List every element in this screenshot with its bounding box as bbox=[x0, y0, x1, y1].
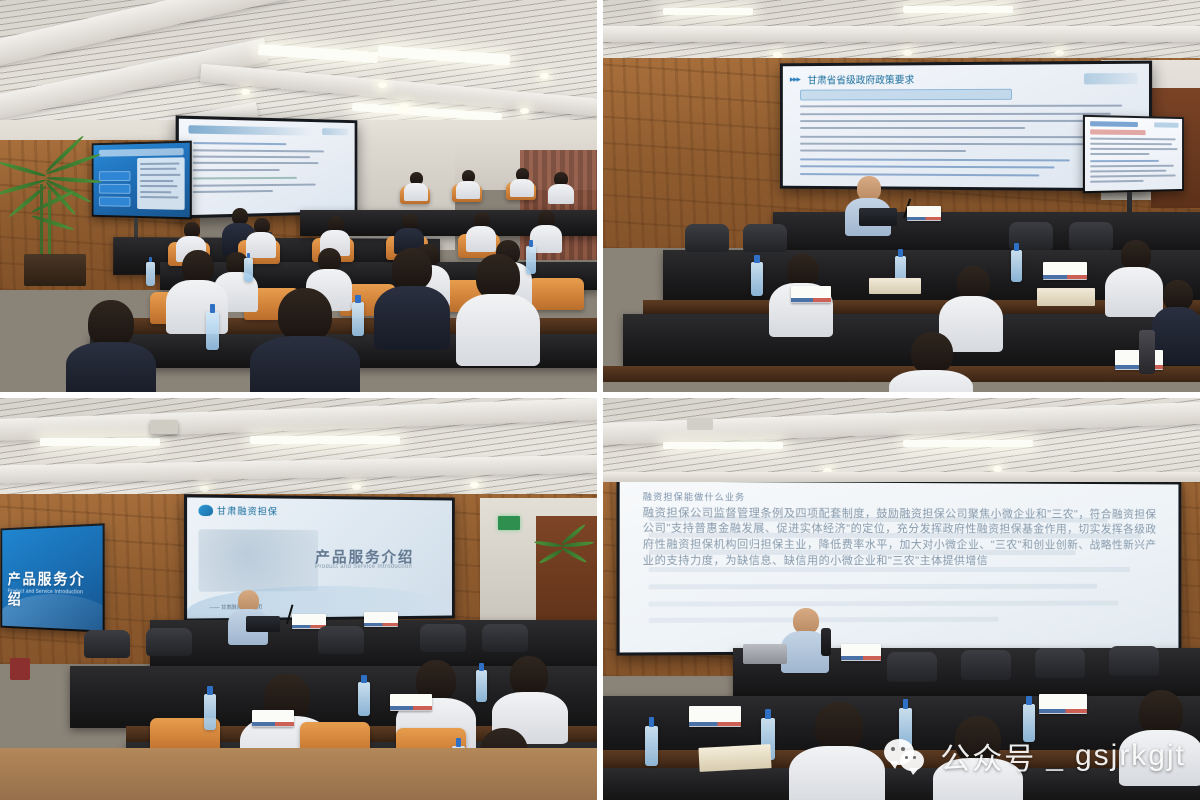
attendee bbox=[548, 172, 574, 200]
water-bottle bbox=[1011, 250, 1022, 282]
screen-mount-rail bbox=[603, 472, 1200, 482]
slide-photo-area bbox=[198, 529, 317, 592]
water-bottle bbox=[244, 258, 253, 282]
wall-alarm bbox=[10, 658, 30, 680]
slide-text-line bbox=[192, 183, 315, 186]
water-bottle bbox=[645, 726, 658, 766]
chair bbox=[743, 224, 787, 252]
nameplate bbox=[252, 710, 294, 727]
slide-logo bbox=[322, 128, 348, 136]
exit-sign bbox=[498, 516, 520, 530]
slide-bullet-icon: ▸▸▸ bbox=[790, 75, 801, 83]
notebook bbox=[1037, 288, 1095, 306]
attendee bbox=[246, 218, 276, 254]
ceiling-downlight bbox=[1055, 50, 1064, 56]
projection-screen-top-left bbox=[176, 115, 358, 218]
thermos bbox=[1139, 330, 1155, 374]
attendee-foreground bbox=[789, 702, 885, 800]
photo-panel-bottom-right: 融资担保能做什么业务 融资担保公司监督管理条例及四项配套制度，鼓励融资担保公司聚… bbox=[600, 395, 1200, 800]
attendee bbox=[1119, 690, 1200, 780]
projection-screen-surface: 融资担保能做什么业务 融资担保公司监督管理条例及四项配套制度，鼓励融资担保公司聚… bbox=[620, 481, 1179, 652]
projection-screen-bottom-right: 融资担保能做什么业务 融资担保公司监督管理条例及四项配套制度，鼓励融资担保公司聚… bbox=[617, 478, 1182, 655]
microphone bbox=[821, 628, 831, 656]
nameplate bbox=[907, 206, 941, 221]
left-tv-surface: 产品服务介绍 Product and Service Introduction bbox=[2, 525, 102, 630]
notebook bbox=[698, 744, 771, 772]
nameplate bbox=[1039, 694, 1087, 714]
nameplate bbox=[791, 286, 831, 303]
photo-panel-top-right: ▸▸▸ 甘肃省省级政府政策要求 bbox=[600, 0, 1200, 395]
laptop[interactable] bbox=[859, 208, 897, 226]
ceiling-downlight bbox=[241, 89, 250, 95]
nameplate bbox=[841, 644, 881, 661]
potted-plant bbox=[536, 528, 596, 588]
side-display-monitor[interactable] bbox=[1083, 115, 1184, 193]
slide-logo bbox=[1085, 72, 1138, 83]
attendee-foreground bbox=[933, 716, 1023, 800]
slide-title-bottom-right: 融资担保能做什么业务 bbox=[643, 490, 745, 504]
nameplate bbox=[1043, 262, 1087, 280]
tv-content-panel bbox=[137, 158, 185, 210]
slide-title-band bbox=[188, 125, 313, 136]
projection-screen-surface: 甘肃融资担保 产品服务介绍 Product and Service Introd… bbox=[187, 497, 452, 618]
attendee bbox=[1151, 280, 1200, 360]
nameplate bbox=[390, 694, 432, 711]
photo-panel-bottom-left: 甘肃融资担保 产品服务介绍 Product and Service Introd… bbox=[0, 395, 600, 800]
projection-screen-bottom-left: 甘肃融资担保 产品服务介绍 Product and Service Introd… bbox=[184, 494, 455, 621]
slide-text-line bbox=[192, 190, 272, 193]
ceiling-projector bbox=[687, 418, 713, 430]
projector-logo-group: 甘肃融资担保 bbox=[198, 504, 278, 518]
chair bbox=[420, 624, 466, 652]
attendee bbox=[404, 172, 428, 198]
ceiling-downlight bbox=[200, 486, 209, 492]
water-bottle bbox=[358, 682, 370, 716]
chair bbox=[887, 652, 937, 682]
slide-text-line bbox=[192, 169, 279, 171]
attendee-foreground bbox=[250, 288, 360, 395]
attendee bbox=[456, 170, 480, 196]
photo-panel-top-left bbox=[0, 0, 600, 395]
chair bbox=[84, 630, 130, 658]
ceiling-strip-light bbox=[663, 442, 783, 449]
slide-text-line bbox=[192, 149, 323, 152]
ceiling-downlight bbox=[378, 82, 387, 88]
water-bottle bbox=[206, 312, 219, 350]
company-logo-icon bbox=[198, 505, 212, 516]
slide-text-line bbox=[192, 142, 286, 145]
chair bbox=[961, 650, 1011, 680]
nameplate bbox=[689, 706, 741, 727]
ceiling-strip-light bbox=[903, 440, 1033, 447]
slide-text-line bbox=[192, 155, 310, 158]
audience-desk-top bbox=[603, 750, 1200, 768]
water-bottle bbox=[204, 694, 216, 730]
chair bbox=[685, 224, 729, 252]
attendee bbox=[492, 656, 568, 736]
ceiling-downlight bbox=[470, 482, 479, 488]
floor bbox=[0, 748, 597, 800]
attendee-foreground bbox=[66, 300, 156, 395]
water-bottle bbox=[899, 708, 912, 748]
chair bbox=[318, 626, 364, 654]
water-bottle bbox=[352, 302, 364, 336]
photo-collage: ▸▸▸ 甘肃省省级政府政策要求 bbox=[0, 0, 1200, 800]
attendee bbox=[510, 168, 534, 194]
water-bottle bbox=[526, 246, 536, 274]
ceiling-downlight bbox=[400, 103, 409, 109]
ceiling-strip-light bbox=[663, 8, 753, 15]
water-bottle bbox=[751, 262, 763, 296]
ceiling-strip-light bbox=[40, 438, 160, 446]
left-tv-monitor[interactable]: 产品服务介绍 Product and Service Introduction bbox=[1, 523, 105, 632]
attendee-foreground bbox=[889, 332, 973, 395]
ceiling-strip-light bbox=[903, 6, 1013, 13]
laptop[interactable] bbox=[246, 616, 280, 632]
chair bbox=[482, 624, 528, 652]
water-bottle bbox=[1023, 704, 1035, 742]
ceiling-projector bbox=[150, 420, 178, 434]
attendee bbox=[320, 216, 350, 252]
slide-title-top-right: 甘肃省省级政府政策要求 bbox=[807, 71, 914, 86]
potted-plant bbox=[2, 150, 112, 280]
projector-logo-text: 甘肃融资担保 bbox=[217, 504, 278, 518]
laptop[interactable] bbox=[743, 644, 787, 664]
water-bottle bbox=[146, 262, 155, 286]
ceiling-downlight bbox=[520, 108, 529, 114]
ceiling-downlight bbox=[903, 50, 912, 56]
ceiling-downlight bbox=[352, 484, 361, 490]
ceiling-downlight bbox=[540, 73, 549, 79]
slide-text-line bbox=[192, 162, 318, 164]
nameplate bbox=[364, 612, 398, 627]
projection-screen-surface bbox=[179, 119, 355, 216]
chair bbox=[146, 628, 192, 656]
ceiling-strip-light bbox=[250, 436, 400, 444]
slide-subtitle-band bbox=[800, 89, 1011, 100]
water-bottle bbox=[476, 670, 487, 702]
side-display-surface bbox=[1085, 117, 1182, 191]
chair bbox=[1109, 646, 1159, 676]
notebook bbox=[869, 278, 921, 294]
ceiling-beam bbox=[603, 26, 1200, 42]
attendee bbox=[530, 210, 562, 248]
presenter bbox=[228, 590, 268, 640]
audience-desk bbox=[603, 768, 1200, 800]
chair bbox=[1035, 648, 1085, 678]
slide-text-line bbox=[192, 177, 297, 180]
projector-subtitle: Product and Service Introduction bbox=[315, 564, 412, 570]
attendee-foreground bbox=[374, 248, 450, 348]
